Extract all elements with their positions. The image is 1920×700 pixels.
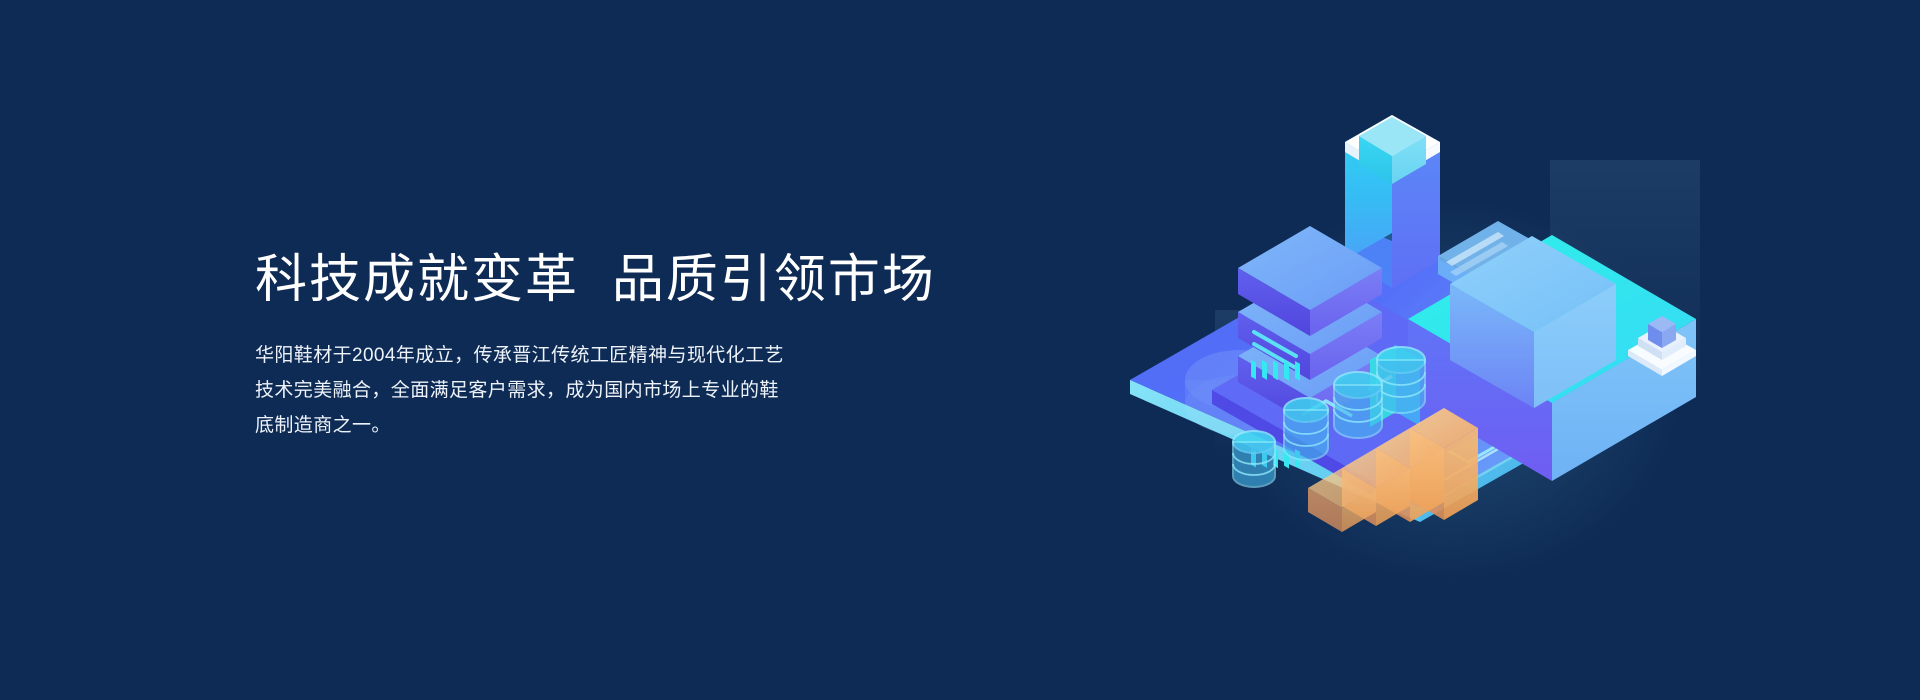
hero-text-block: 科技成就变革 品质引领市场 华阳鞋材于2004年成立，传承晋江传统工匠精神与现代… (255, 248, 975, 443)
storage-tank (1377, 347, 1425, 413)
isometric-factory-illustration (1120, 60, 1800, 620)
storage-tank (1233, 431, 1275, 487)
hero-banner: 科技成就变革 品质引领市场 华阳鞋材于2004年成立，传承晋江传统工匠精神与现代… (0, 0, 1920, 700)
storage-tank (1334, 372, 1382, 438)
hero-description: 华阳鞋材于2004年成立，传承晋江传统工匠精神与现代化工艺技术完美融合，全面满足… (255, 338, 785, 443)
storage-tank (1284, 398, 1328, 460)
page-title: 科技成就变革 品质引领市场 (255, 248, 975, 312)
